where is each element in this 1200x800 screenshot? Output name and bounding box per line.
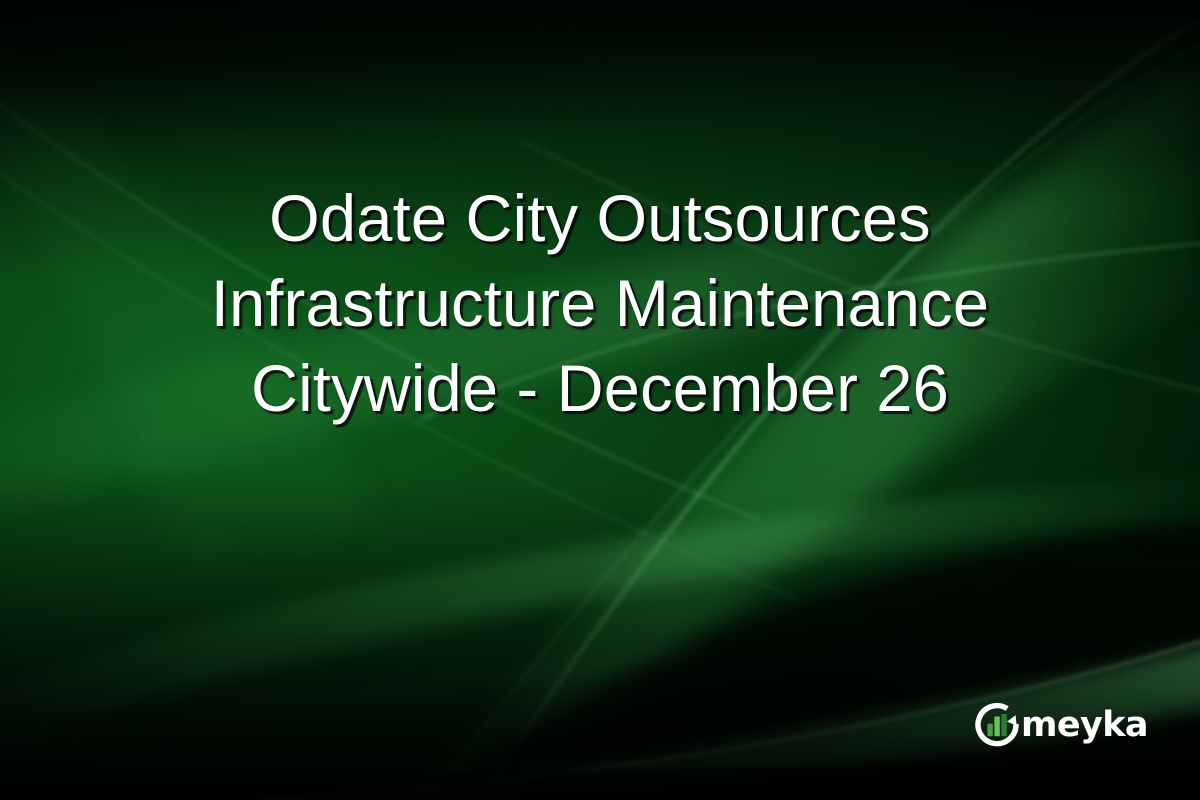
bar-chart-in-circular-arrow-icon — [974, 701, 1020, 747]
brand-wordmark: meyka — [1021, 708, 1148, 743]
headline-line-1: Odate City Outsources — [56, 176, 1143, 261]
headline: Odate City Outsources Infrastructure Mai… — [0, 176, 1200, 431]
news-banner-card: Odate City Outsources Infrastructure Mai… — [0, 0, 1200, 800]
brand-logo[interactable]: meyka — [974, 699, 1148, 749]
logo-bar-3 — [1001, 714, 1006, 736]
headline-line-2: Infrastructure Maintenance — [56, 261, 1143, 346]
logo-bar-1 — [987, 724, 992, 737]
logo-bar-2 — [994, 716, 999, 736]
headline-line-3: Citywide - December 26 — [56, 346, 1143, 431]
